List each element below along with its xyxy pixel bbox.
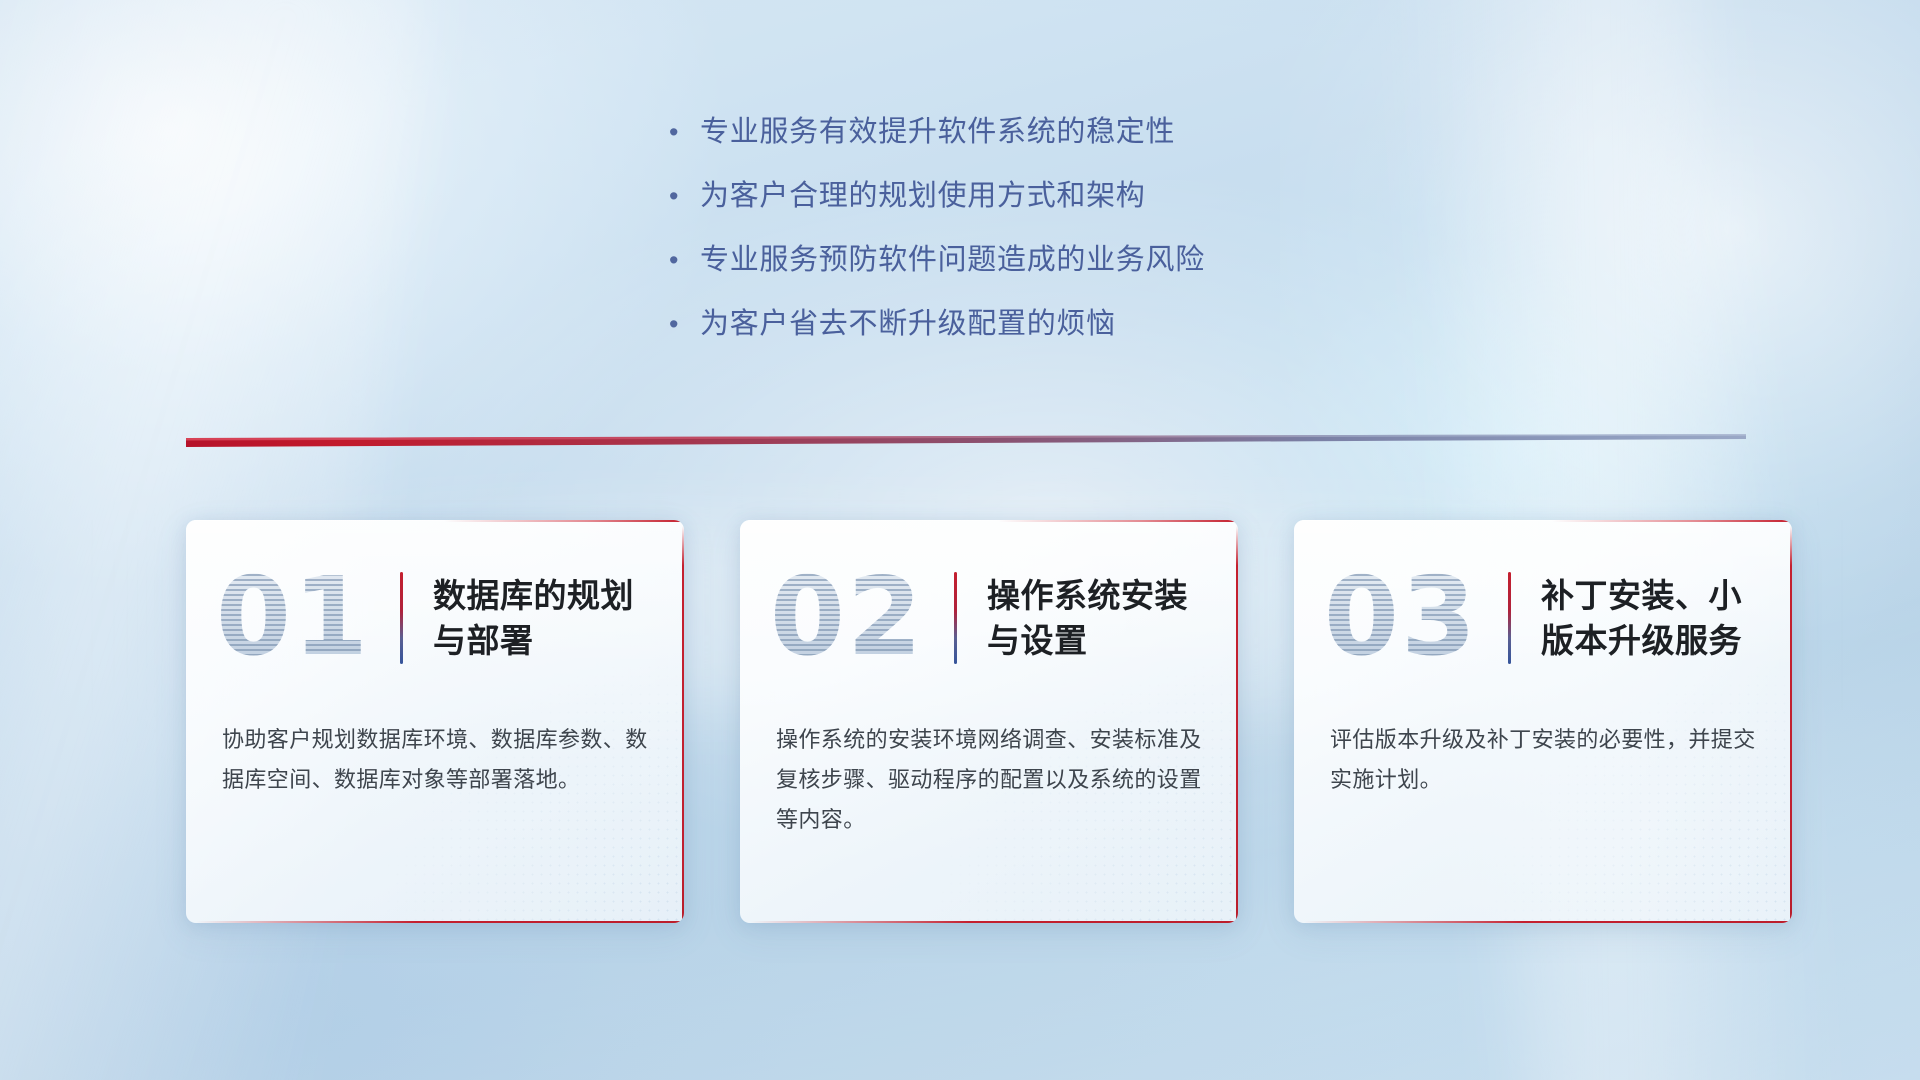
card-number-badge: 01 bbox=[186, 548, 400, 688]
card-accent-top bbox=[1552, 520, 1792, 522]
bullet-label: 为客户省去不断升级配置的烦恼 bbox=[700, 304, 1116, 344]
card-title: 操作系统安装与设置 bbox=[957, 573, 1238, 663]
card-title: 数据库的规划与部署 bbox=[403, 573, 684, 663]
service-card[interactable]: 03 补丁安装、小版本升级服务 评估版本升级及补丁安装的必要性，并提交实施计划。 bbox=[1294, 520, 1792, 923]
card-header: 03 补丁安装、小版本升级服务 bbox=[1294, 548, 1792, 688]
bullet-dot-icon: • bbox=[666, 112, 700, 152]
divider-shape-icon bbox=[186, 427, 1746, 453]
card-description: 评估版本升级及补丁安装的必要性，并提交实施计划。 bbox=[1330, 720, 1758, 800]
list-item: • 为客户省去不断升级配置的烦恼 bbox=[666, 304, 1486, 368]
card-number-badge: 02 bbox=[740, 548, 954, 688]
card-header: 01 数据库的规划与部署 bbox=[186, 548, 684, 688]
section-divider bbox=[186, 427, 1746, 453]
card-description: 操作系统的安装环境网络调查、安装标准及复核步骤、驱动程序的配置以及系统的设置等内… bbox=[776, 720, 1204, 840]
card-number: 02 bbox=[770, 564, 924, 672]
bullet-label: 为客户合理的规划使用方式和架构 bbox=[700, 176, 1146, 216]
service-card[interactable]: 02 操作系统安装与设置 操作系统的安装环境网络调查、安装标准及复核步骤、驱动程… bbox=[740, 520, 1238, 923]
card-title: 补丁安装、小版本升级服务 bbox=[1511, 573, 1792, 663]
card-accent-bottom bbox=[196, 921, 684, 923]
bullet-dot-icon: • bbox=[666, 304, 700, 344]
card-accent-bottom bbox=[750, 921, 1238, 923]
card-header: 02 操作系统安装与设置 bbox=[740, 548, 1238, 688]
bullet-dot-icon: • bbox=[666, 176, 700, 216]
service-cards-row: 01 数据库的规划与部署 协助客户规划数据库环境、数据库参数、数据库空间、数据库… bbox=[0, 520, 1920, 940]
card-accent-bottom bbox=[1304, 921, 1792, 923]
list-item: • 专业服务预防软件问题造成的业务风险 bbox=[666, 240, 1486, 304]
bullet-label: 专业服务有效提升软件系统的稳定性 bbox=[700, 112, 1175, 152]
bullet-label: 专业服务预防软件问题造成的业务风险 bbox=[700, 240, 1205, 280]
list-item: • 专业服务有效提升软件系统的稳定性 bbox=[666, 112, 1486, 176]
bullet-dot-icon: • bbox=[666, 240, 700, 280]
card-number: 01 bbox=[216, 564, 370, 672]
service-card[interactable]: 01 数据库的规划与部署 协助客户规划数据库环境、数据库参数、数据库空间、数据库… bbox=[186, 520, 684, 923]
card-number-badge: 03 bbox=[1294, 548, 1508, 688]
benefits-bullet-list: • 专业服务有效提升软件系统的稳定性 • 为客户合理的规划使用方式和架构 • 专… bbox=[666, 112, 1486, 368]
card-number: 03 bbox=[1324, 564, 1478, 672]
list-item: • 为客户合理的规划使用方式和架构 bbox=[666, 176, 1486, 240]
card-accent-top bbox=[998, 520, 1238, 522]
card-accent-top bbox=[444, 520, 684, 522]
card-description: 协助客户规划数据库环境、数据库参数、数据库空间、数据库对象等部署落地。 bbox=[222, 720, 650, 800]
